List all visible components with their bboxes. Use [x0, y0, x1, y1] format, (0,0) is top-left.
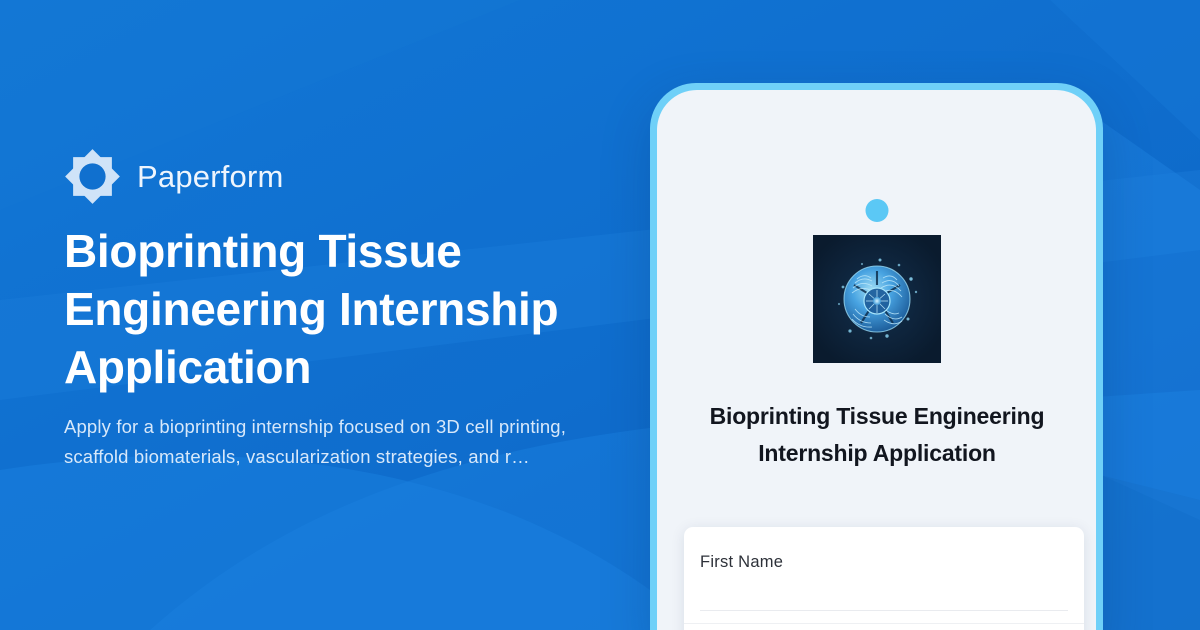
- paperform-logo-icon: [64, 148, 121, 205]
- field-label-first-name: First Name: [700, 553, 1068, 572]
- page-description: Apply for a bioprinting internship focus…: [64, 412, 584, 472]
- page-title: Bioprinting Tissue Engineering Internshi…: [64, 222, 624, 396]
- phone-screen: Bioprinting Tissue Engineering Internshi…: [657, 90, 1096, 630]
- form-title: Bioprinting Tissue Engineering Internshi…: [687, 398, 1067, 472]
- hero-content: Paperform Bioprinting Tissue Engineering…: [64, 0, 684, 630]
- background-facet-right-mid: [1090, 120, 1200, 520]
- form-field-first-name[interactable]: First Name: [684, 527, 1084, 624]
- phone-mockup: Bioprinting Tissue Engineering Internshi…: [650, 83, 1103, 630]
- camera-dot-icon: [865, 199, 888, 222]
- form-field-last-name[interactable]: Last Name: [684, 624, 1084, 630]
- form-hero-image: [813, 235, 941, 363]
- organoid-illustration-icon: [813, 235, 941, 363]
- form-card: First Name Last Name: [684, 527, 1084, 630]
- field-underline-first-name: [700, 610, 1068, 611]
- brand-logo: Paperform: [64, 148, 284, 205]
- brand-name: Paperform: [137, 159, 284, 195]
